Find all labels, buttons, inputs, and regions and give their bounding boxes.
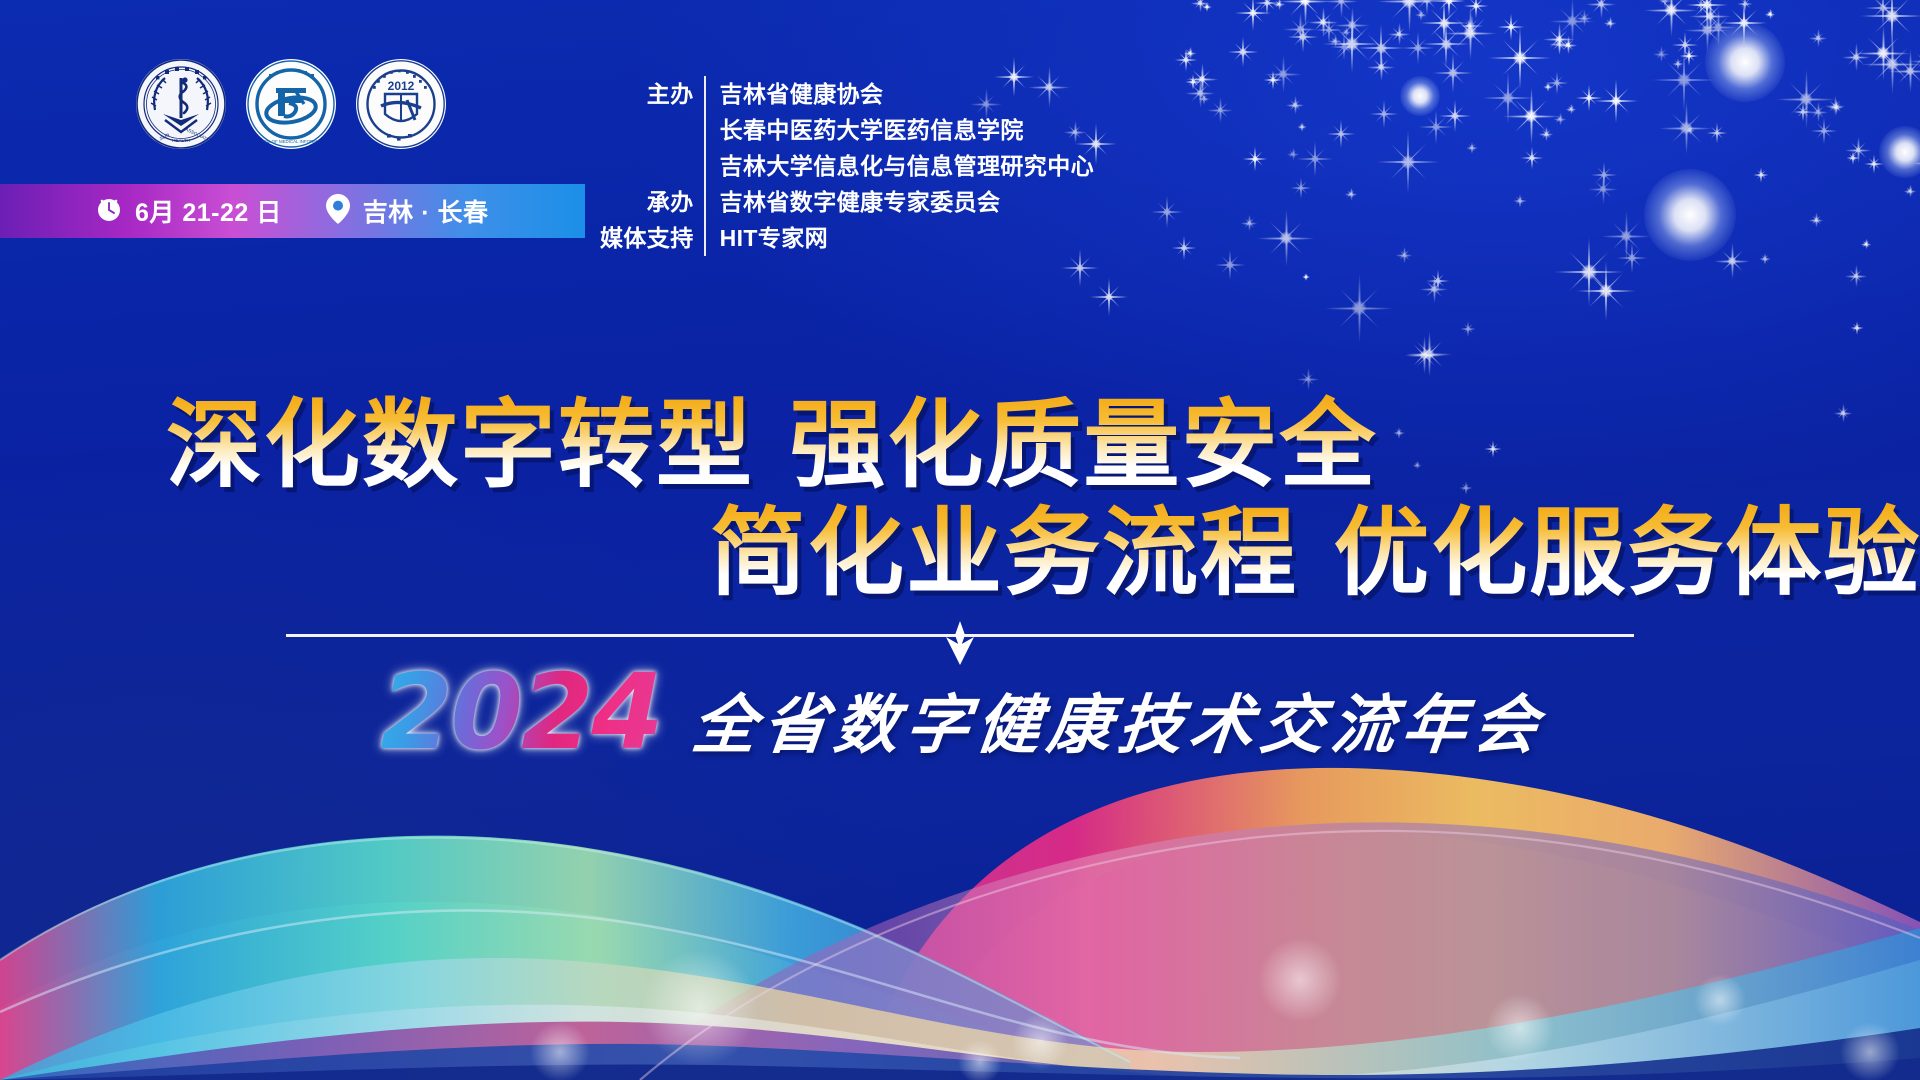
- sparkle-star-icon: [1185, 74, 1201, 90]
- sparkle-star-icon: [1356, 23, 1406, 73]
- organizer-value: 长春中医药大学医药信息学院: [720, 112, 1094, 148]
- sparkle-star-icon: [1842, 43, 1871, 72]
- date-item: 6月 21-22 日: [94, 193, 282, 229]
- sparkle-star-icon: [1566, 104, 1577, 115]
- star-glow-orb: [1879, 126, 1920, 178]
- sparkle-star-icon: [1286, 96, 1305, 115]
- sparkle-star-icon: [1418, 109, 1454, 145]
- sparkle-star-icon: [1689, 0, 1732, 38]
- sparkle-star-icon: [1593, 78, 1639, 124]
- sparkle-star-icon: [1590, 161, 1618, 189]
- sparkle-star-icon: [1419, 0, 1469, 48]
- sparkle-star-icon: [1539, 127, 1554, 142]
- sparkle-star-icon: [1396, 247, 1413, 264]
- sparkle-star-icon: [1765, 9, 1776, 20]
- sparkle-star-icon: [1850, 321, 1864, 335]
- sparkle-star-icon: [1809, 213, 1824, 228]
- sparkle-star-icon: [1369, 99, 1399, 129]
- headline-block: 深化数字转型 强化质量安全 简化业务流程 优化服务体验: [0, 392, 1920, 607]
- sparkle-star-icon: [1296, 140, 1334, 178]
- sparkle-star-icon: [1576, 10, 1593, 27]
- sparkle-star-icon: [1242, 146, 1268, 172]
- sparkle-star-icon: [1330, 33, 1358, 61]
- sparkle-star-icon: [1367, 53, 1396, 82]
- sparkle-star-icon: [1466, 142, 1478, 154]
- sparkle-star-icon: [1497, 13, 1525, 41]
- location-text: 吉林 · 长春: [363, 193, 489, 229]
- sparkle-star-icon: [1913, 148, 1920, 179]
- star-glow-orb: [1705, 22, 1785, 102]
- logo-row: JILIN HEALTH ASSOCIATION: [135, 58, 447, 150]
- sparkle-star-icon: [1658, 0, 1672, 8]
- sparkle-star-icon: [1405, 336, 1444, 375]
- sparkle-star-icon: [1545, 71, 1569, 95]
- sparkle-star-icon: [1559, 36, 1578, 55]
- sparkle-star-icon: [1737, 0, 1753, 12]
- date-location-bar: 6月 21-22 日 吉林 · 长春: [0, 184, 585, 238]
- sparkle-star-icon: [1549, 0, 1596, 45]
- sparkle-star-icon: [1659, 101, 1714, 156]
- organizer-label: [600, 112, 694, 148]
- sparkle-star-icon: [1829, 100, 1844, 115]
- sparkle-star-icon: [1888, 49, 1920, 94]
- sparkle-star-icon: [1264, 55, 1303, 94]
- star-glow-orb: [1400, 76, 1440, 116]
- sparkle-star-icon: [1543, 23, 1576, 56]
- sparkle-star-icon: [1345, 188, 1358, 201]
- organizer-values: 吉林省健康协会 长春中医药大学医药信息学院 吉林大学信息化与信息管理研究中心 吉…: [704, 76, 1094, 256]
- location-pin-icon: [324, 193, 352, 230]
- organizer-value: HIT专家网: [720, 220, 1094, 256]
- sparkle-star-icon: [1463, 0, 1489, 19]
- sparkle-star-icon: [1302, 273, 1310, 281]
- sparkle-star-icon: [1644, 0, 1699, 38]
- sparkle-star-icon: [1616, 242, 1648, 274]
- sparkle-star-icon: [1855, 25, 1912, 82]
- sparkle-star-icon: [1502, 87, 1561, 146]
- organizer-label: 媒体支持: [600, 220, 694, 256]
- organizer-label: 承办: [600, 184, 694, 220]
- sparkle-star-icon: [1601, 211, 1652, 262]
- sparkle-star-icon: [1845, 137, 1872, 164]
- sparkle-star-icon: [1720, 0, 1768, 47]
- sparkle-star-icon: [1283, 12, 1318, 47]
- sparkle-star-icon: [1809, 29, 1828, 48]
- sparkle-star-icon: [1699, 8, 1738, 47]
- sparkle-star-icon: [1776, 69, 1837, 130]
- sparkle-star-icon: [1186, 63, 1219, 96]
- colorful-ribbon-waves: [0, 660, 1920, 1080]
- svg-text:HEALTH: HEALTH: [172, 138, 190, 143]
- star-glow-orb: [1644, 169, 1736, 261]
- organizer-labels: 主办 承办 媒体支持: [600, 76, 694, 256]
- sparkle-star-icon: [1910, 47, 1920, 76]
- sparkle-star-icon: [1375, 129, 1441, 195]
- sparkle-star-icon: [1420, 275, 1449, 304]
- headline-line-2: 简化业务流程 优化服务体验: [0, 500, 1920, 608]
- sparkle-star-icon: [1150, 195, 1184, 229]
- sparkle-star-icon: [1864, 0, 1902, 27]
- sparkle-star-icon: [1432, 52, 1474, 94]
- sparkle-star-icon: [1808, 102, 1829, 123]
- sparkle-star-icon: [1324, 0, 1359, 19]
- sparkle-star-icon: [1421, 19, 1471, 69]
- sparkle-star-icon: [1859, 0, 1920, 49]
- sparkle-star-icon: [1273, 0, 1286, 11]
- sparkle-star-icon: [1174, 48, 1198, 72]
- sparkle-star-icon: [1321, 13, 1383, 75]
- school-of-medical-information-logo: SCHOOL OF MEDICAL INFORMATION: [245, 58, 337, 150]
- organizer-value: 吉林省健康协会: [720, 76, 1094, 112]
- date-text: 6月 21-22 日: [135, 193, 282, 229]
- sparkle-star-icon: [1198, 93, 1210, 105]
- sparkle-star-icon: [1520, 146, 1544, 170]
- sparkle-star-icon: [1401, 31, 1435, 65]
- sparkle-star-icon: [1184, 47, 1197, 60]
- headline-line-1: 深化数字转型 强化质量安全: [0, 392, 1920, 500]
- sparkle-star-icon: [1553, 236, 1625, 308]
- sparkle-star-icon: [1460, 14, 1484, 38]
- sparkle-star-icon: [1672, 58, 1684, 70]
- sparkle-star-icon: [1308, 7, 1339, 38]
- conference-banner: JILIN HEALTH ASSOCIATION: [0, 0, 1920, 1080]
- sparkle-star-icon: [1290, 177, 1312, 199]
- sparkle-star-icon: [1706, 122, 1728, 144]
- sparkle-star-icon: [1753, 167, 1769, 183]
- svg-text:2012: 2012: [388, 79, 415, 93]
- sparkle-star-icon: [1685, 125, 1696, 136]
- sparkle-star-icon: [1845, 265, 1868, 288]
- sparkle-star-icon: [1653, 46, 1670, 63]
- sparkle-star-icon: [1793, 102, 1813, 122]
- jilin-university-informatization-research-center-logo: 2012: [355, 58, 447, 150]
- sparkle-star-icon: [1207, 97, 1234, 124]
- sparkle-star-icon: [1759, 253, 1771, 265]
- sparkle-star-icon: [1810, 117, 1838, 145]
- sparkle-star-icon: [1191, 0, 1210, 13]
- sparkle-star-icon: [1575, 84, 1603, 112]
- sparkle-star-icon: [1575, 260, 1637, 322]
- sparkle-star-icon: [1588, 174, 1619, 205]
- sparkle-star-icon: [1679, 46, 1699, 66]
- sparkle-star-icon: [1406, 331, 1453, 378]
- sparkle-star-icon: [1684, 7, 1731, 54]
- organizer-value: 吉林大学信息化与信息管理研究中心: [720, 148, 1094, 184]
- clock-icon: [94, 194, 124, 229]
- sparkle-star-icon: [1415, 9, 1427, 21]
- sparkle-star-icon: [1487, 25, 1553, 91]
- sparkle-star-icon: [1326, 119, 1356, 149]
- sparkle-star-icon: [1432, 0, 1466, 18]
- sparkle-star-icon: [1443, 6, 1498, 61]
- sparkle-star-icon: [1692, 0, 1710, 14]
- sparkle-star-icon: [1549, 34, 1570, 55]
- organizer-label: 主办: [600, 76, 694, 112]
- sparkle-star-icon: [1825, 96, 1846, 117]
- sparkle-star-icon: [1543, 82, 1553, 92]
- sparkle-star-icon: [1324, 273, 1395, 344]
- sparkle-star-icon: [1254, 0, 1280, 16]
- sparkle-star-icon: [1864, 154, 1884, 174]
- sparkle-star-icon: [1377, 0, 1442, 34]
- sparkle-star-icon: [1586, 0, 1617, 20]
- sparkle-star-icon: [1297, 368, 1320, 391]
- sparkle-star-icon: [1861, 239, 1872, 250]
- sparkle-star-icon: [1426, 269, 1450, 293]
- sparkle-star-icon: [1202, 2, 1212, 12]
- sparkle-star-icon: [1460, 321, 1476, 337]
- sparkle-star-icon: [1334, 7, 1371, 44]
- sparkle-star-icon: [1263, 70, 1283, 90]
- jilin-health-association-logo: JILIN HEALTH ASSOCIATION: [135, 58, 227, 150]
- sparkle-star-icon: [1185, 78, 1216, 109]
- svg-text:SCHOOL OF MEDICAL INFORMATION: SCHOOL OF MEDICAL INFORMATION: [252, 139, 330, 144]
- sparkle-star-icon: [1214, 249, 1246, 281]
- sparkle-star-icon: [1171, 235, 1197, 261]
- sparkle-star-icon: [1846, 151, 1860, 165]
- sparkle-star-icon: [1685, 0, 1729, 27]
- sparkle-star-icon: [1287, 148, 1300, 161]
- organizer-value: 吉林省数字健康专家委员会: [720, 184, 1094, 220]
- sparkle-star-icon: [1554, 113, 1567, 126]
- sparkle-star-icon: [1315, 16, 1343, 44]
- sparkle-star-icon: [1411, 0, 1443, 16]
- sparkle-star-icon: [1241, 215, 1258, 232]
- sparkle-star-icon: [1462, 19, 1476, 33]
- sparkle-star-icon: [1388, 23, 1411, 46]
- sparkle-star-icon: [1297, 122, 1307, 132]
- sparkle-star-icon: [1481, 71, 1535, 125]
- sparkle-star-icon: [1287, 21, 1319, 53]
- sparkle-star-icon: [1234, 0, 1272, 32]
- sparkle-star-icon: [1089, 277, 1129, 317]
- sparkle-star-icon: [1714, 243, 1751, 280]
- sparkle-star-icon: [1438, 99, 1472, 133]
- sparkle-star-icon: [1651, 47, 1717, 113]
- sparkle-star-icon: [1604, 17, 1617, 30]
- sparkle-star-icon: [1257, 209, 1316, 268]
- organizer-label: [600, 148, 694, 184]
- organizer-block: 主办 承办 媒体支持 吉林省健康协会 长春中医药大学医药信息学院 吉林大学信息化…: [600, 76, 1094, 256]
- sparkle-star-icon: [1513, 194, 1527, 208]
- sparkle-star-icon: [1227, 36, 1259, 68]
- sparkle-star-icon: [1279, 0, 1332, 28]
- sparkle-star-icon: [1671, 31, 1699, 59]
- sparkle-star-icon: [1904, 185, 1917, 198]
- sparkle-star-icon: [1341, 27, 1352, 38]
- location-item: 吉林 · 长春: [324, 193, 489, 230]
- sparkle-star-icon: [1861, 33, 1920, 96]
- sparkle-star-icon: [1329, 35, 1342, 48]
